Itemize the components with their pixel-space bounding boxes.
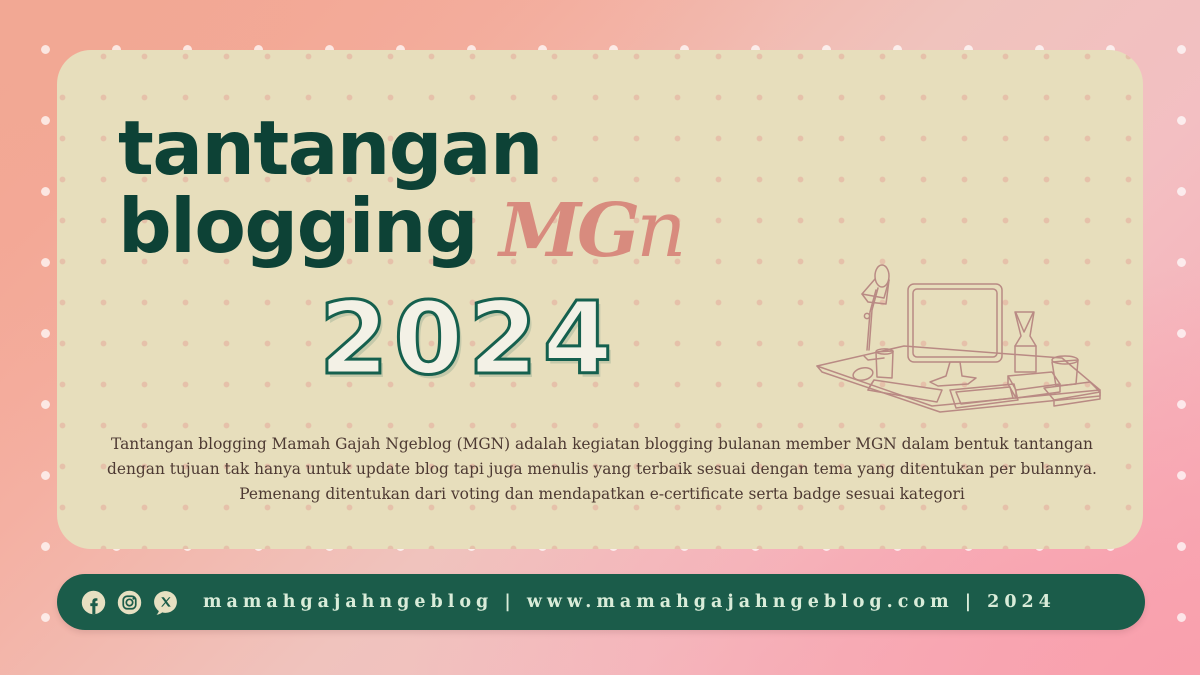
headline-line-2-text: blogging xyxy=(118,182,477,270)
instagram-icon[interactable] xyxy=(117,590,142,615)
brand-script-n: n xyxy=(636,185,682,275)
social-links xyxy=(81,590,178,615)
footer-handle-text: mamahgajahngeblog | www.mamahgajahngeblo… xyxy=(203,592,1056,612)
brand-script-logo: MGn xyxy=(499,188,682,274)
x-twitter-icon[interactable] xyxy=(153,590,178,615)
headline-line-1: tantangan xyxy=(118,112,682,185)
poster-canvas: tantangan bloggingMGn 2024 Tantangan blo… xyxy=(0,0,1200,675)
description-paragraph: Tantangan blogging Mamah Gajah Ngeblog (… xyxy=(97,432,1107,507)
desk-workspace-illustration xyxy=(812,250,1112,430)
brand-script-mg: MG xyxy=(499,188,636,274)
facebook-icon[interactable] xyxy=(81,590,106,615)
headline-block: tantangan bloggingMGn xyxy=(118,112,682,264)
headline-line-2: bloggingMGn xyxy=(118,189,682,265)
footer-bar: mamahgajahngeblog | www.mamahgajahngeblo… xyxy=(57,574,1145,630)
year-title: 2024 xyxy=(319,280,617,397)
content-card: tantangan bloggingMGn 2024 Tantangan blo… xyxy=(57,50,1143,549)
